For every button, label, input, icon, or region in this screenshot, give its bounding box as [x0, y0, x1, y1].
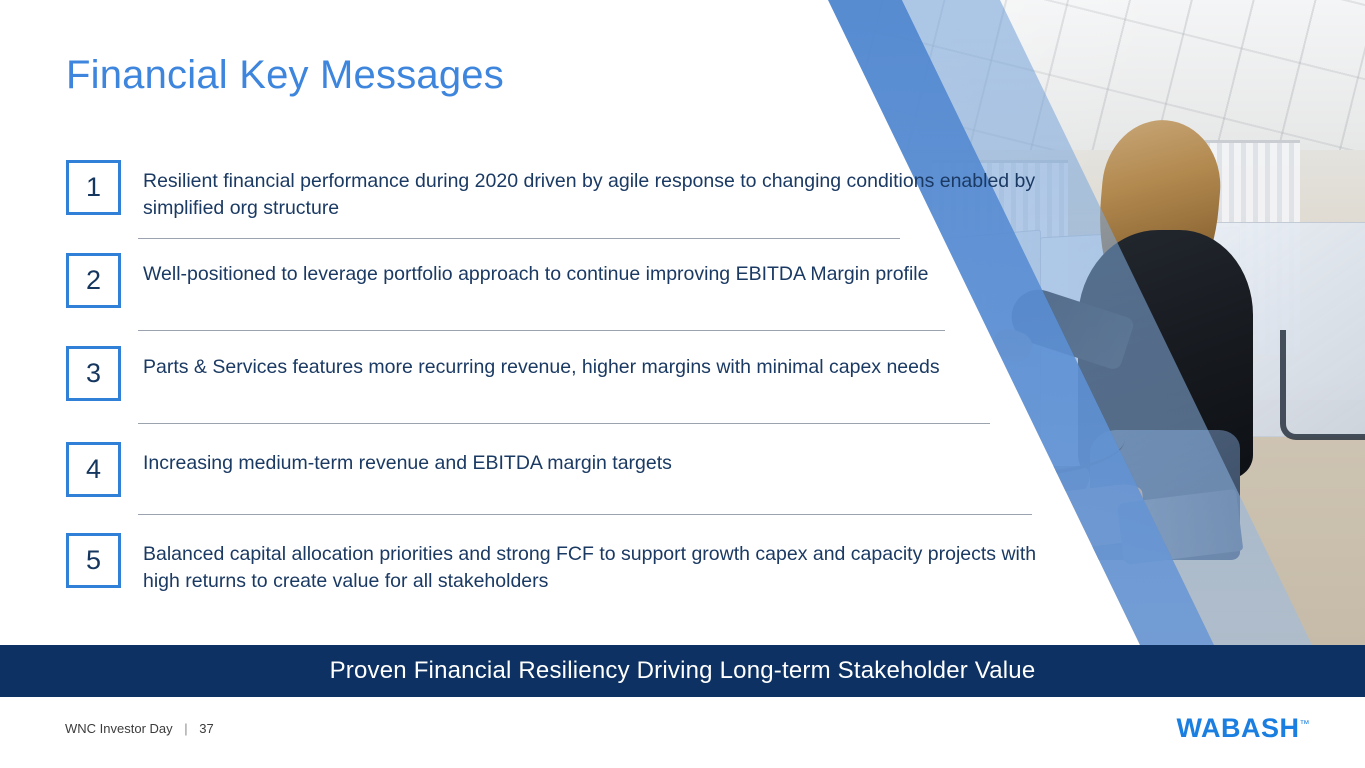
list-item: 4 Increasing medium-term revenue and EBI… [0, 424, 1100, 517]
footer-meta: WNC Investor Day | 37 [65, 721, 214, 736]
message-text: Well-positioned to leverage portfolio ap… [143, 253, 928, 288]
trademark-icon: ™ [1300, 719, 1311, 730]
slide: Financial Key Messages 1 Resilient finan… [0, 0, 1365, 768]
message-text: Increasing medium-term revenue and EBITD… [143, 442, 672, 477]
message-number-badge: 2 [66, 253, 121, 308]
message-number-badge: 3 [66, 346, 121, 401]
page-number: 37 [199, 721, 213, 736]
slide-footer: WNC Investor Day | 37 WABASH™ [0, 697, 1365, 768]
footer-separator: | [184, 721, 187, 736]
message-text: Resilient financial performance during 2… [143, 160, 1043, 222]
list-item: 3 Parts & Services features more recurri… [0, 331, 1100, 424]
page-title: Financial Key Messages [66, 53, 504, 98]
message-number-badge: 5 [66, 533, 121, 588]
list-item: 2 Well-positioned to leverage portfolio … [0, 238, 1100, 331]
deck-name: WNC Investor Day [65, 721, 173, 736]
summary-banner: Proven Financial Resiliency Driving Long… [0, 645, 1365, 697]
message-number-badge: 4 [66, 442, 121, 497]
banner-text: Proven Financial Resiliency Driving Long… [330, 657, 1036, 685]
key-messages-list: 1 Resilient financial performance during… [0, 160, 1100, 597]
list-item: 1 Resilient financial performance during… [0, 160, 1100, 238]
message-number-badge: 1 [66, 160, 121, 215]
wabash-logo: WABASH™ [1177, 713, 1311, 744]
message-divider [138, 514, 1032, 515]
list-item: 5 Balanced capital allocation priorities… [0, 517, 1100, 597]
message-text: Parts & Services features more recurring… [143, 346, 940, 381]
message-text: Balanced capital allocation priorities a… [143, 533, 1043, 595]
logo-wordmark: WABASH [1177, 713, 1300, 743]
